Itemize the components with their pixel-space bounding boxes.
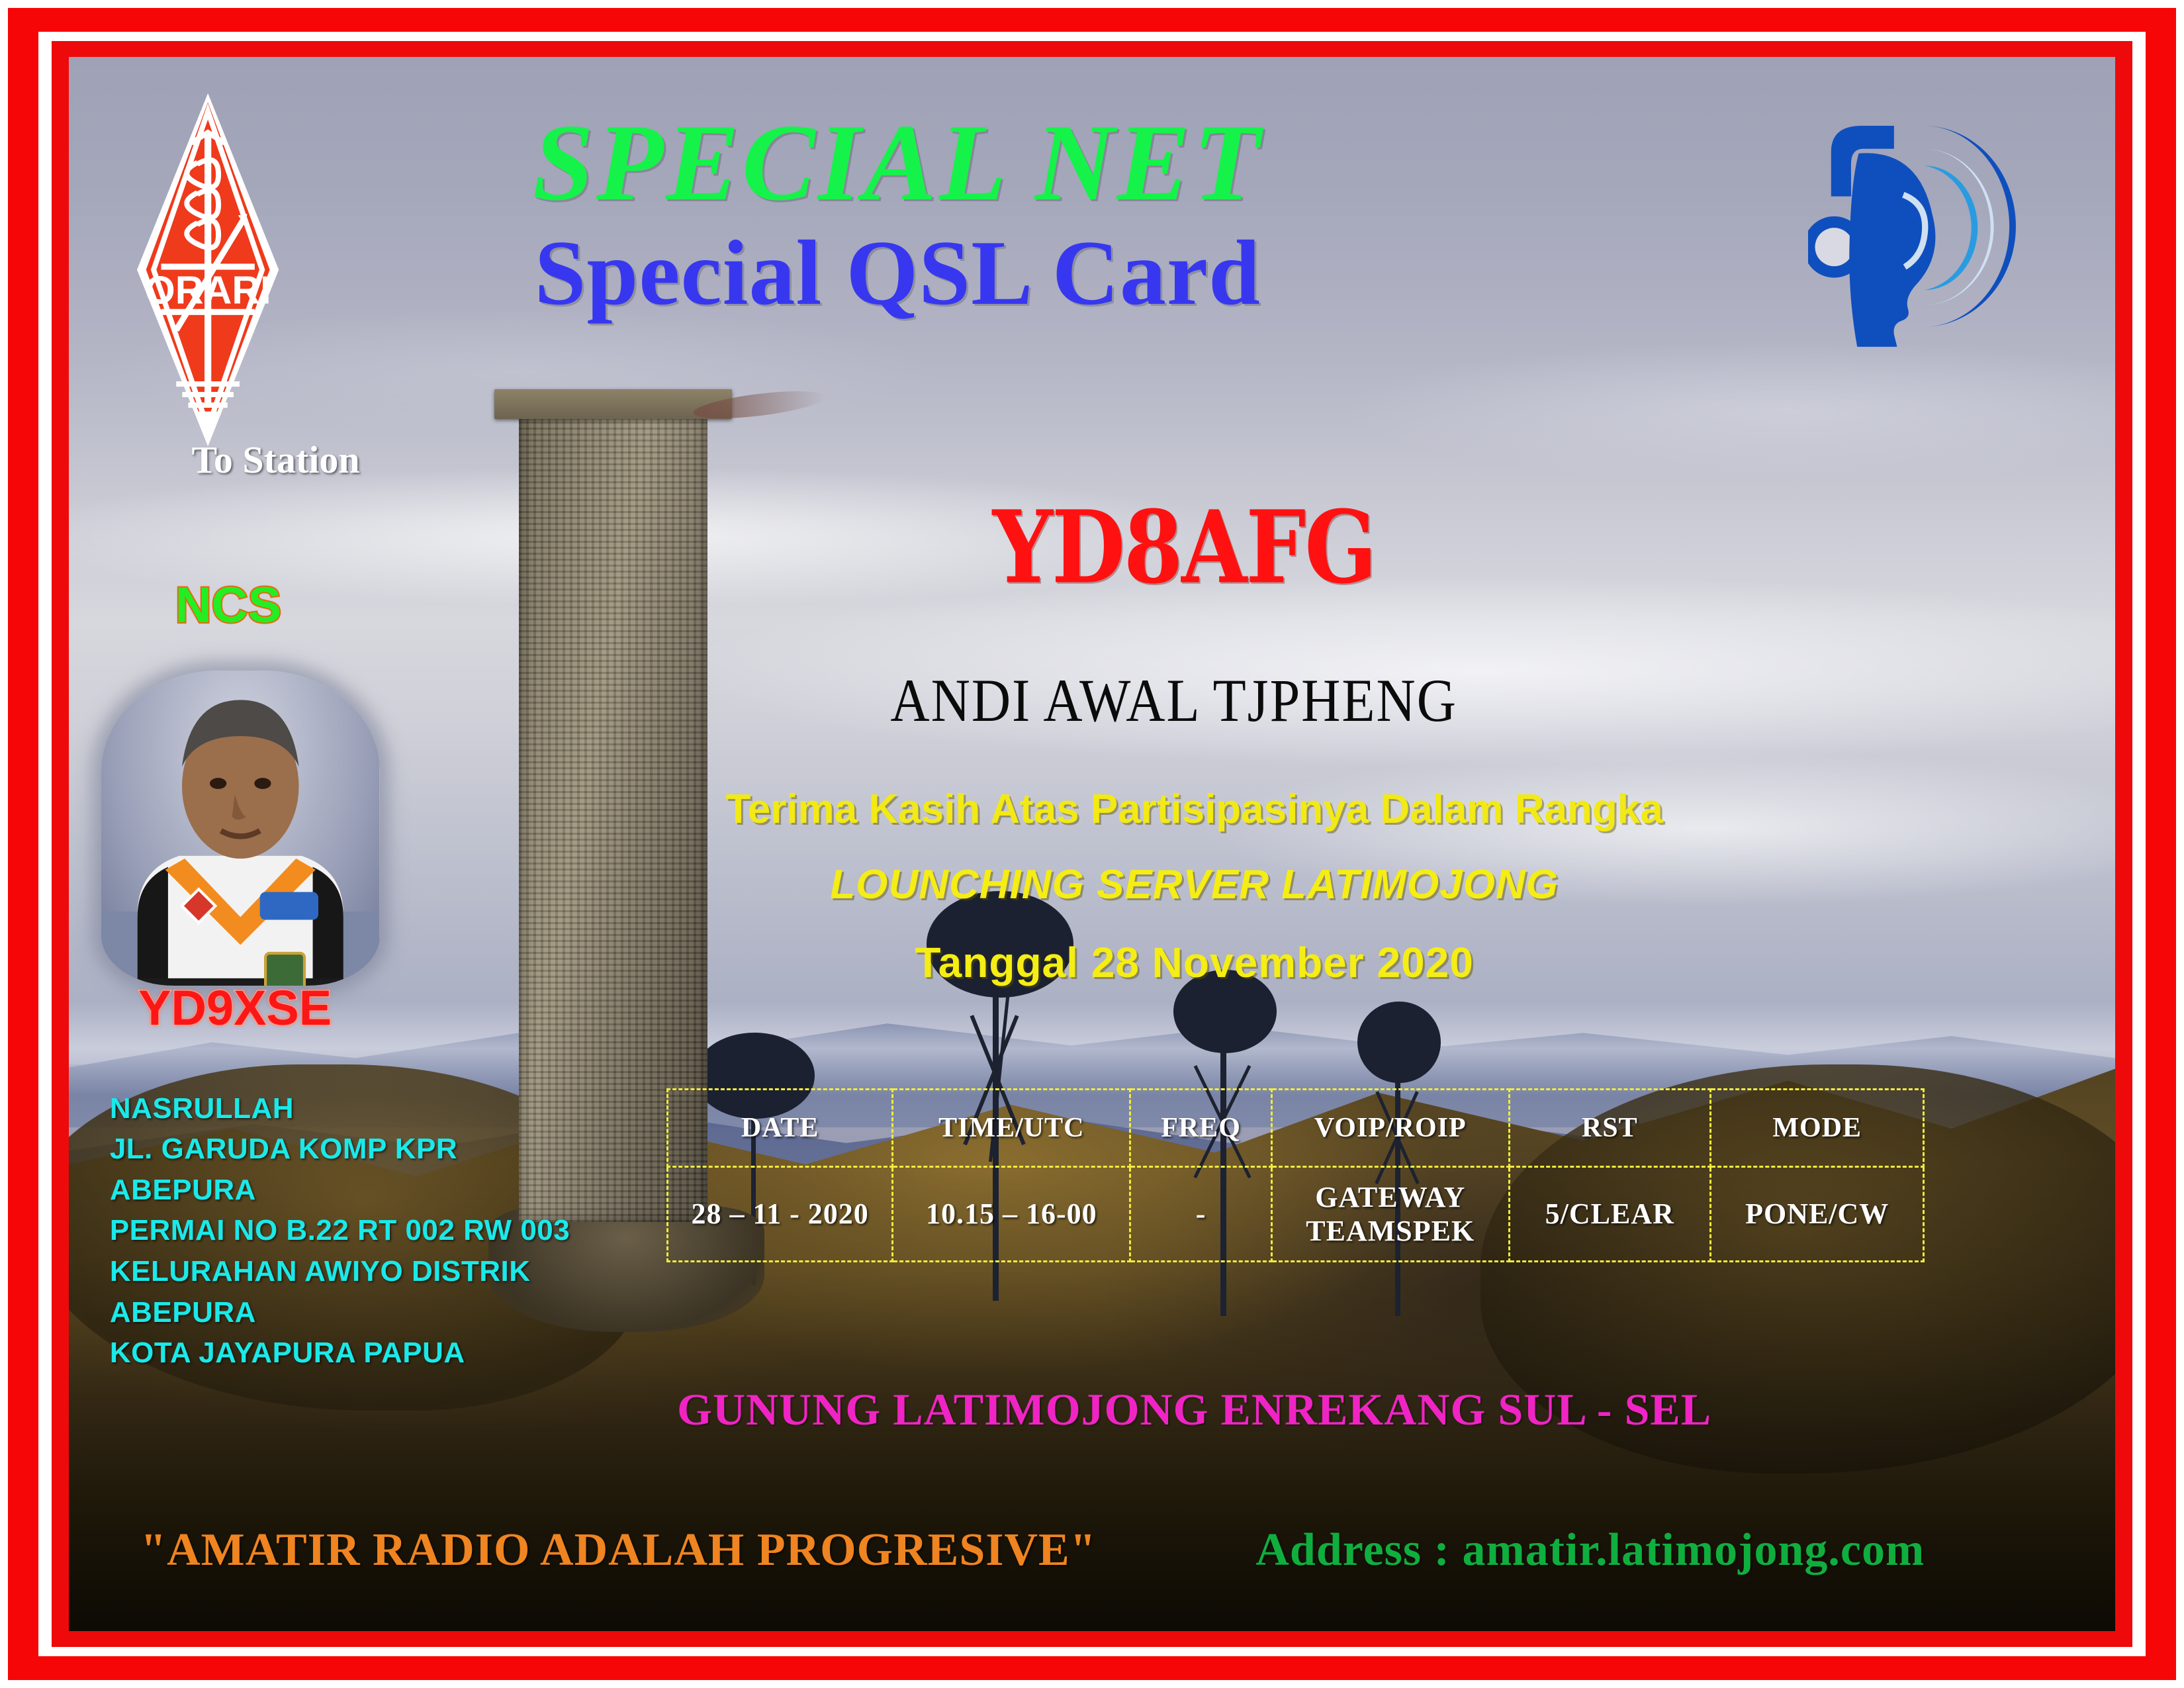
address-line: ABEPURA [110, 1292, 642, 1333]
event-date-line: Tanggal 28 November 2020 [621, 941, 1768, 984]
qso-log-table: DATE TIME/UTC FREQ VOIP/ROIP RST MODE 28… [666, 1088, 1925, 1262]
cell-date: 28 – 11 - 2020 [667, 1166, 893, 1261]
event-thanks-line: Terima Kasih Atas Partisipasinya Dalam R… [621, 789, 1768, 830]
address-line: ABEPURA [110, 1170, 642, 1211]
column-header-voip-roip: VOIP/ROIP [1271, 1089, 1509, 1166]
address-line: NASRULLAH [110, 1088, 642, 1129]
to-station-label: To Station [192, 438, 360, 482]
ncs-label: NCS [175, 577, 281, 634]
address-line: PERMAI NO B.22 RT 002 RW 003 [110, 1210, 642, 1251]
event-place-line: GUNUNG LATIMOJONG ENREKANG SUL - SEL [601, 1387, 1788, 1432]
address-line: KELURAHAN AWIYO DISTRIK [110, 1251, 642, 1292]
cell-rst: 5/CLEAR [1509, 1166, 1710, 1261]
column-header-time-utc: TIME/UTC [893, 1089, 1130, 1166]
ncs-callsign: YD9XSE [138, 980, 332, 1036]
website-address: Address : amatir.latimojong.com [1255, 1524, 1925, 1577]
qsl-card: ORARI [0, 0, 2184, 1688]
column-header-mode: MODE [1710, 1089, 1924, 1166]
page-subtitle: Special QSL Card [222, 227, 1573, 320]
column-header-date: DATE [667, 1089, 893, 1166]
address-line: KOTA JAYAPURA PAPUA [110, 1333, 642, 1374]
event-name-line: LOUNCHING SERVER LATIMOJONG [621, 865, 1768, 906]
page-title: SPECIAL NET [222, 107, 1573, 217]
address-line: JL. GARUDA KOMP KPR [110, 1129, 642, 1170]
ncs-operator-photo [101, 671, 380, 986]
cell-time-utc: 10.15 – 16-00 [893, 1166, 1130, 1261]
column-header-freq: FREQ [1130, 1089, 1272, 1166]
cell-freq: - [1130, 1166, 1272, 1261]
operator-name: ANDI AWAL TJPHENG [642, 671, 1706, 731]
card-photo-stage: ORARI [69, 57, 2115, 1631]
station-callsign: YD8AFG [683, 498, 1686, 598]
club-motto: "AMATIR RADIO ADALAH PROGRESIVE" [140, 1524, 1096, 1577]
cell-mode: PONE/CW [1710, 1166, 1924, 1261]
content-overlay: ORARI [69, 57, 2115, 1631]
station-address-block: NASRULLAH JL. GARUDA KOMP KPR ABEPURA PE… [110, 1088, 642, 1374]
cell-voip-roip: GATEWAY TEAMSPEK [1271, 1166, 1509, 1261]
table-header-row: DATE TIME/UTC FREQ VOIP/ROIP RST MODE [667, 1089, 1924, 1166]
column-header-rst: RST [1509, 1089, 1710, 1166]
radio-operator-logo [1808, 85, 2054, 369]
table-row: 28 – 11 - 2020 10.15 – 16-00 - GATEWAY T… [667, 1166, 1924, 1261]
